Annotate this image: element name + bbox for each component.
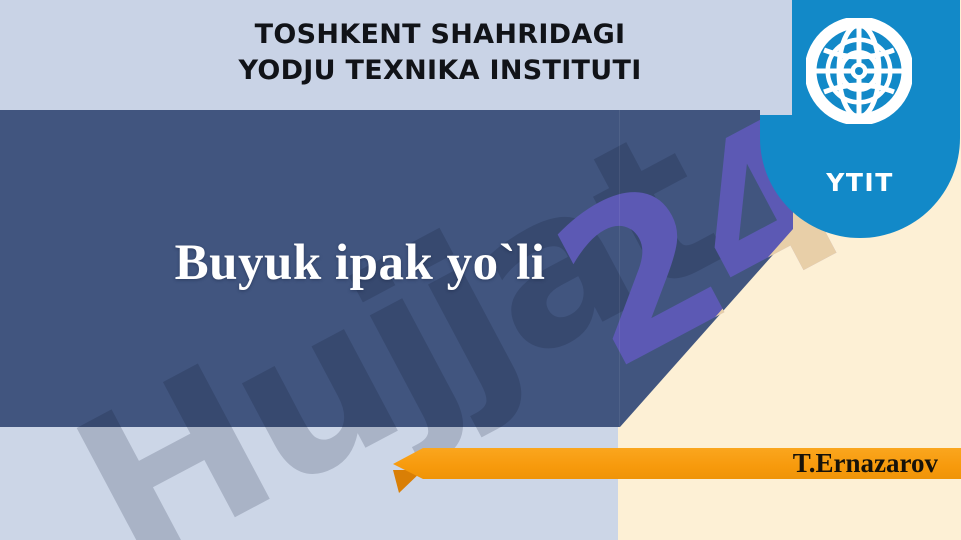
- author-name: T.Ernazarov: [393, 448, 938, 479]
- presentation-slide: Hujjat 24 24 Hujjat 24 24 TOSHKENT SHAHR…: [0, 0, 961, 540]
- institute-header-line-2: YODJU TEXNIKA INSTITUTI: [0, 53, 880, 89]
- institute-header-line-1: TOSHKENT SHAHRIDAGI: [0, 17, 880, 53]
- slide-title: Buyuk ipak yo`li: [0, 234, 720, 292]
- institute-header: TOSHKENT SHAHRIDAGI YODJU TEXNIKA INSTIT…: [0, 17, 880, 89]
- globe-target-icon: [806, 18, 912, 124]
- logo-abbreviation-label: YTIT: [760, 168, 960, 197]
- shield-left-notch: [760, 0, 792, 115]
